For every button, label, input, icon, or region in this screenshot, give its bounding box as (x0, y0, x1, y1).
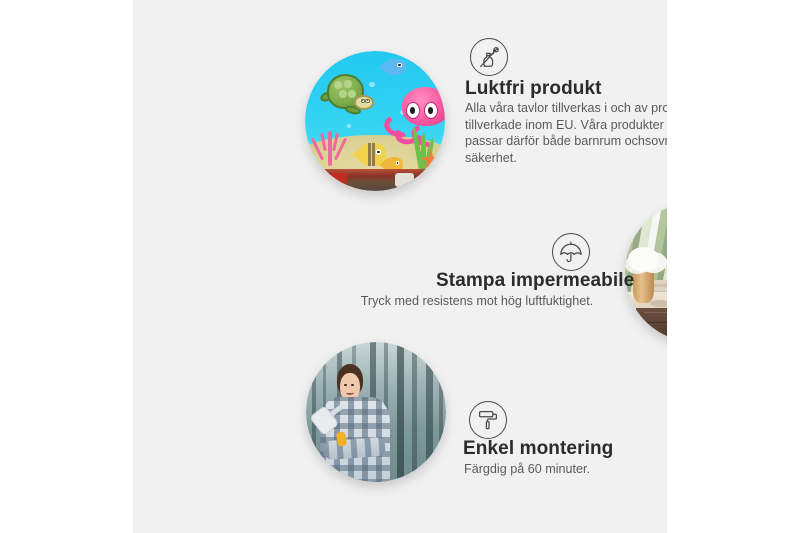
no-odor-spray-bottle-icon (470, 38, 508, 76)
feature-body-waterproof: Tryck med resistens mot hög luftfuktighe… (355, 293, 599, 310)
coral-illustration (311, 124, 353, 166)
bathroom-cabinet (636, 308, 667, 342)
umbrella-icon (552, 233, 590, 271)
feature-body-odorless: Alla våra tavlor tillverkas i och av pro… (465, 100, 667, 166)
fish-illustration (358, 143, 386, 165)
underwater-cartoon-scene-photo (305, 51, 445, 191)
feature-body-easy-mounting: Färgdig på 60 minuter. (464, 461, 664, 478)
flower (628, 247, 659, 272)
product-features-panel: Luktfri produkt Alla våra tavlor tillver… (133, 0, 667, 533)
turtle-illustration (319, 71, 375, 119)
painter-in-forest-photo (306, 342, 446, 482)
paint-roller-icon (469, 401, 507, 439)
soap-dish (650, 300, 667, 307)
sea-foreground-strip (305, 169, 445, 191)
screenshot-root: Luktfri produkt Alla våra tavlor tillver… (0, 0, 800, 533)
painter-person (317, 364, 393, 482)
feature-title-waterproof: Stampa impermeabile (436, 270, 634, 292)
feature-title-odorless: Luktfri produkt (465, 78, 602, 100)
fish-illustration (383, 59, 405, 74)
feature-title-easy-mounting: Enkel montering (463, 438, 613, 460)
